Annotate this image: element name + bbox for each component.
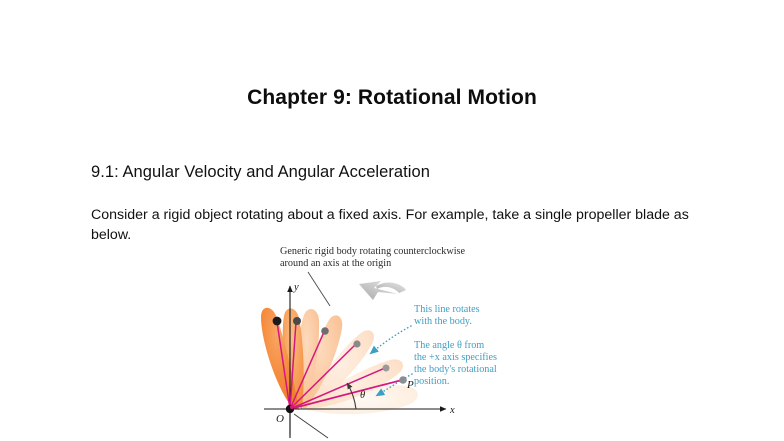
annotation-2-line-2: the +x axis specifies (414, 352, 497, 363)
annotation-1-line-2: with the body. (414, 316, 472, 327)
annotation-2-line-4: position. (414, 376, 449, 387)
annotation-1-leader (370, 326, 411, 354)
particle-dot-4 (353, 340, 360, 347)
figure-caption-line-1: Generic rigid body rotating counterclock… (280, 246, 465, 257)
section-heading: 9.1: Angular Velocity and Angular Accele… (91, 163, 430, 182)
body-paragraph: Consider a rigid object rotating about a… (91, 205, 707, 245)
origin-label: O (276, 413, 284, 425)
theta-label: θ (360, 390, 365, 401)
x-axis-label: x (449, 405, 455, 416)
axis-leader-line (294, 414, 328, 438)
particle-dot-2 (293, 317, 301, 325)
annotation-1-line-1: This line rotates (414, 304, 480, 315)
page-title: Chapter 9: Rotational Motion (0, 86, 784, 110)
point-p-label: P (406, 379, 414, 391)
rotation-direction-arrow (359, 281, 406, 300)
y-axis-label: y (293, 282, 299, 293)
figure-caption-line-2: around an axis at the origin (280, 258, 391, 269)
particle-dot-3 (321, 327, 329, 335)
particle-dot-5 (383, 365, 390, 372)
annotation-2-line-3: the body's rotational (414, 364, 497, 375)
document-page: Chapter 9: Rotational Motion 9.1: Angula… (0, 0, 784, 441)
rotational-motion-figure: Generic rigid body rotating counterclock… (250, 240, 550, 441)
origin-accent-dot (290, 405, 294, 409)
annotation-2-line-1: The angle θ from (414, 340, 484, 351)
caption-leader-line (308, 272, 330, 306)
particle-dot-1 (273, 317, 282, 326)
